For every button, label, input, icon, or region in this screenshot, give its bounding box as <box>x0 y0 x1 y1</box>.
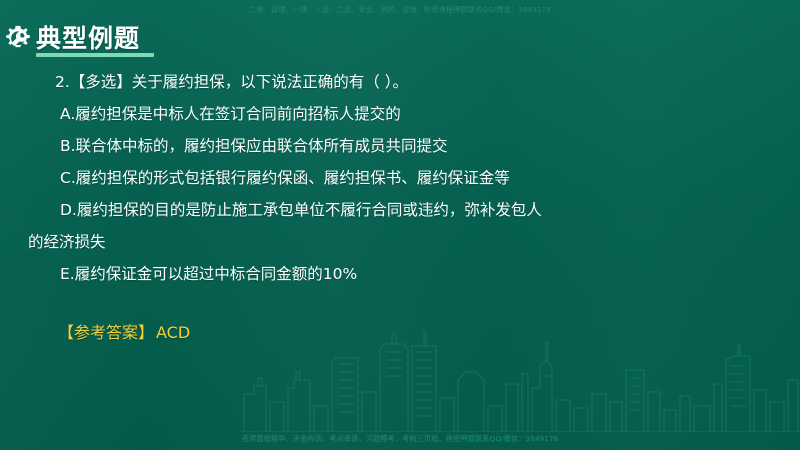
question-stem: 2.【多选】关于履约担保，以下说法正确的有（ ）。 <box>0 66 800 98</box>
option-d-continuation: 的经济损失 <box>0 226 800 258</box>
slide-header: 典型例题 <box>0 20 140 58</box>
page-title: 典型例题 <box>36 26 140 52</box>
option-d: D.履约担保的目的是防止施工承包单位不履行合同或违约，弥补发包人 <box>0 194 800 226</box>
question-content: 2.【多选】关于履约担保，以下说法正确的有（ ）。 A.履约担保是中标人在签订合… <box>0 66 800 348</box>
gear-wrench-icon <box>3 24 33 54</box>
top-banner-text: 二建、监理、一建、一造、二造、安全、消防、咨询、检测课程押题联系QQ/微信：38… <box>249 5 551 15</box>
option-b: B.联合体中标的，履约担保应由联合体所有成员共同提交 <box>0 130 800 162</box>
answer-label: 【参考答案】 <box>58 323 154 342</box>
answer-value: ACD <box>156 323 190 342</box>
bottom-promo-banner: 名师面授精华、央金内训、考点串讲、习题模考、考前三页纸、绝密押题联系QQ/微信：… <box>0 430 800 448</box>
slide-root: 二建、监理、一建、一造、二造、安全、消防、咨询、检测课程押题联系QQ/微信：38… <box>0 0 800 450</box>
option-a: A.履约担保是中标人在签订合同前向招标人提交的 <box>0 98 800 130</box>
option-e: E.履约保证金可以超过中标合同金额的10% <box>0 258 800 290</box>
header-title-wrap: 典型例题 <box>36 26 140 52</box>
title-underline <box>36 53 154 57</box>
bottom-banner-text: 名师面授精华、央金内训、考点串讲、习题模考、考前三页纸、绝密押题联系QQ/微信：… <box>242 434 558 444</box>
top-promo-banner: 二建、监理、一建、一造、二造、安全、消防、咨询、检测课程押题联系QQ/微信：38… <box>0 0 800 20</box>
option-c: C.履约担保的形式包括银行履约保函、履约担保书、履约保证金等 <box>0 162 800 194</box>
reference-answer: 【参考答案】ACD <box>0 318 800 348</box>
